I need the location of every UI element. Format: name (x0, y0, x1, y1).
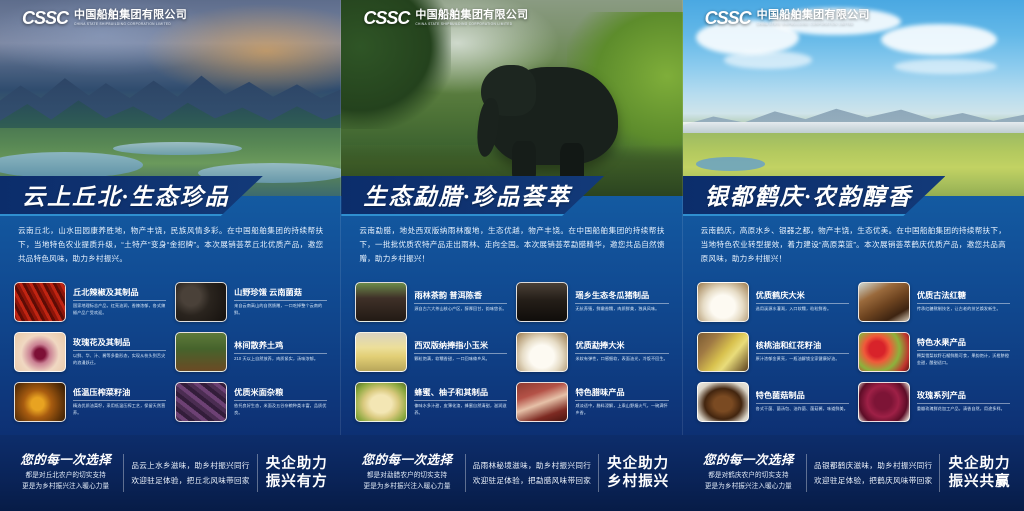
product-card[interactable]: 瑶乡生态冬瓜猪制品 无抗养殖，鲜嫩香糯，肉质鲜美，独具风味。 (516, 278, 668, 326)
product-card[interactable]: 优质古法红糖 传承红糖熬制技艺，让古老的技艺焕发新生。 (858, 278, 1010, 326)
product-desc: 咸淡适中，腊料浸解，上乘山野烟火气，一碗满怀乡香。 (575, 403, 668, 416)
hero-image-qiubei: CSSC 中国船舶集团有限公司 CHINA STATE SHIPBUILDING… (0, 0, 341, 196)
panel-description: 云南鹤庆，高原水乡、银器之都，物产丰饶，生态优美。在中国船舶集团的持续帮扶下，当… (683, 214, 1024, 266)
panel-description: 云南丘北，山水田园康养胜地，物产丰饶，民族风情多彩。在中国船舶集团的持续帮扶下，… (0, 214, 341, 266)
product-desc: 国家地理标志产品，红亮油润，香辣浓郁，各式辣椒产品广受欢迎。 (73, 303, 166, 316)
product-name: 优质勐捧大米 (575, 341, 668, 354)
title-banner: 云上丘北·生态珍品 (0, 176, 263, 216)
product-thumbnail (14, 382, 66, 422)
cssc-logo-mark: CSSC (22, 9, 68, 27)
footer-slogan-line2: 振兴有方 (266, 473, 328, 491)
product-desc: 来自云南高山的自然馈赠，一口吃掉整个云南的鲜。 (234, 303, 327, 316)
footer-pledge-line2: 更是为乡村振兴注入暖心力量 (355, 482, 458, 493)
product-thumbnail (516, 382, 568, 422)
footer-script-headline: 您的每一次选择 (355, 454, 458, 468)
product-card[interactable]: 丘北辣椒及其制品 国家地理标志产品，红亮油润，香辣浓郁，各式辣椒产品广受欢迎。 (14, 278, 166, 326)
footer-slogan-line1: 央企助力 (266, 455, 328, 473)
product-name: 低温压榨菜籽油 (73, 388, 166, 401)
product-name: 特色菌菇制品 (756, 391, 849, 404)
product-desc: 依托良好生态，米面及五谷杂粮种类丰富，品质优良。 (234, 403, 327, 416)
product-card[interactable]: 特色菌菇制品 各式干菌、菌汤包、油炸菌、菌菇酱，味道鲜美。 (697, 378, 849, 426)
footer-slogan-line2: 振兴共赢 (948, 473, 1010, 491)
product-thumbnail (516, 332, 568, 372)
product-name: 玫瑰系列产品 (917, 391, 1010, 404)
cssc-logo-name-cn: 中国船舶集团有限公司 (74, 10, 187, 22)
panel-heqing: CSSC 中国船舶集团有限公司 CHINA STATE SHIPBUILDING… (683, 0, 1024, 511)
panel-title: 云上丘北·生态珍品 (22, 177, 230, 211)
panel-footer: 您的每一次选择 都是对勐腊农户的切实支持 更是为乡村振兴注入暖心力量 品雨林秘境… (341, 435, 682, 511)
footer-invite-line2: 欢迎驻足体验，把丘北风味带回家 (131, 473, 249, 488)
product-thumbnail (516, 282, 568, 322)
footer-slogan: 央企助力 乡村振兴 (599, 455, 669, 491)
product-thumbnail (697, 332, 749, 372)
footer-slogan-line1: 央企助力 (948, 455, 1010, 473)
hero-photo (0, 0, 341, 196)
hero-image-mengla: CSSC 中国船舶集团有限公司 CHINA STATE SHIPBUILDING… (341, 0, 682, 196)
panel-footer: 您的每一次选择 都是对鹤庆农户的切实支持 更是为乡村振兴注入暖心力量 品银都鹤庆… (683, 435, 1024, 511)
footer-invitation: 品雨林秘境滋味，助乡村振兴同行 欢迎驻足体验，把勐腊风味带回家 (466, 458, 598, 488)
product-name: 雨林茶韵 普洱陈香 (414, 291, 507, 304)
cssc-logo: CSSC 中国船舶集团有限公司 CHINA STATE SHIPBUILDING… (363, 9, 528, 27)
footer-slogan: 央企助力 振兴有方 (258, 455, 328, 491)
product-card[interactable]: 核桃油和红花籽油 原汁浓郁金黄亮，一瓶油解锁全家健康好油。 (697, 328, 849, 376)
cssc-logo-name-cn: 中国船舶集团有限公司 (415, 10, 528, 22)
description-text: 云南丘北，山水田园康养胜地，物产丰饶，民族风情多彩。在中国船舶集团的持续帮扶下，… (18, 224, 323, 266)
product-desc: 原汁浓郁金黄亮，一瓶油解锁全家健康好油。 (756, 356, 849, 363)
title-banner: 银都鹤庆·农韵醇香 (683, 176, 946, 216)
cssc-logo-name-en: CHINA STATE SHIPBUILDING CORPORATION LIM… (74, 22, 187, 26)
footer-script-headline: 您的每一次选择 (14, 454, 117, 468)
panel-title: 生态勐腊·珍品荟萃 (363, 177, 571, 211)
footer-pledge-line2: 更是为乡村振兴注入暖心力量 (14, 482, 117, 493)
cssc-logo-mark: CSSC (705, 9, 751, 27)
product-name: 优质古法红糖 (917, 291, 1010, 304)
product-thumbnail (858, 382, 910, 422)
product-grid: 雨林茶韵 普洱陈香 源自古六大茶山核心产区，醇厚回甘，韵味悠长。 瑶乡生态冬瓜猪… (355, 278, 668, 426)
product-name: 优质米面杂粮 (234, 388, 327, 401)
footer-invite-line2: 欢迎驻足体验，把鹤庆风味带回家 (814, 473, 932, 488)
cssc-logo-name-en: CHINA STATE SHIPBUILDING CORPORATION LIM… (757, 22, 870, 26)
cssc-logo-mark: CSSC (363, 9, 409, 27)
footer-script-headline: 您的每一次选择 (697, 454, 800, 468)
title-banner: 生态勐腊·珍品荟萃 (341, 176, 604, 216)
footer-invite-line2: 欢迎驻足体验，把勐腊风味带回家 (473, 473, 591, 488)
product-card[interactable]: 林间散养土鸡 210 天以上自然放养，肉质紧实，汤味浓郁。 (175, 328, 327, 376)
footer-pledge: 您的每一次选择 都是对丘北农户的切实支持 更是为乡村振兴注入暖心力量 (14, 454, 123, 493)
product-thumbnail (175, 382, 227, 422)
product-thumbnail (14, 332, 66, 372)
product-name: 玫瑰花及其制品 (73, 338, 166, 351)
product-desc: 重瓣玫瑰鲜花加工产品，清香自然，用途多样。 (917, 406, 1010, 413)
product-card[interactable]: 山野珍馐 云南菌菇 来自云南高山的自然馈赠，一口吃掉整个云南的鲜。 (175, 278, 327, 326)
description-text: 云南勐腊，地处西双版纳雨林腹地，生态优越，物产丰饶。在中国船舶集团的持续帮扶下，… (359, 224, 664, 266)
product-name: 蜂蜜、柚子和其制品 (414, 388, 507, 401)
product-card[interactable]: 低温压榨菜籽油 精选优质油菜籽，采用低温压榨工艺，保留天然营养。 (14, 378, 166, 426)
hero-photo (341, 0, 682, 196)
product-name: 优质鹤庆大米 (756, 291, 849, 304)
product-thumbnail (697, 382, 749, 422)
product-thumbnail (858, 332, 910, 372)
product-card[interactable]: 优质鹤庆大米 选用溪源水灌溉，入口软糯，粒粒鲜香。 (697, 278, 849, 326)
product-thumbnail (175, 332, 227, 372)
product-card[interactable]: 玫瑰系列产品 重瓣玫瑰鲜花加工产品，清香自然，用途多样。 (858, 378, 1010, 426)
footer-slogan-line1: 央企助力 (607, 455, 669, 473)
product-name: 特色腊味产品 (575, 388, 668, 401)
product-card[interactable]: 优质米面杂粮 依托良好生态，米面及五谷杂粮种类丰富，品质优良。 (175, 378, 327, 426)
product-desc: 各式干菌、菌汤包、油炸菌、菌菇酱，味道鲜美。 (756, 406, 849, 413)
product-desc: 传承红糖熬制技艺，让古老的技艺焕发新生。 (917, 306, 1010, 313)
product-name: 丘北辣椒及其制品 (73, 288, 166, 301)
product-card[interactable]: 特色腊味产品 咸淡适中，腊料浸解，上乘山野烟火气，一碗满怀乡香。 (516, 378, 668, 426)
product-desc: 选用溪源水灌溉，入口软糯，粒粒鲜香。 (756, 306, 849, 313)
footer-pledge-line1: 都是对勐腊农户的切实支持 (355, 471, 458, 482)
product-name: 特色水果产品 (917, 338, 1010, 351)
footer-invite-line1: 品云上水乡滋味，助乡村振兴同行 (131, 458, 249, 473)
product-card[interactable]: 雨林茶韵 普洱陈香 源自古六大茶山核心产区，醇厚回甘，韵味悠长。 (355, 278, 507, 326)
product-name: 西双版纳捧指小玉米 (414, 341, 507, 354)
poster-board: CSSC 中国船舶集团有限公司 CHINA STATE SHIPBUILDING… (0, 0, 1024, 511)
product-name: 山野珍馐 云南菌菇 (234, 288, 327, 301)
footer-invitation: 品银都鹤庆滋味，助乡村振兴同行 欢迎驻足体验，把鹤庆风味带回家 (807, 458, 939, 488)
product-desc: 以鲜、华、汁、酱等多重形态，实现从枝头到舌尖的浪漫跃迁。 (73, 353, 166, 366)
product-thumbnail (355, 332, 407, 372)
footer-pledge-line2: 更是为乡村振兴注入暖心力量 (697, 482, 800, 493)
footer-slogan-line2: 乡村振兴 (607, 473, 669, 491)
cssc-logo: CSSC 中国船舶集团有限公司 CHINA STATE SHIPBUILDING… (22, 9, 187, 27)
product-name: 核桃油和红花籽油 (756, 341, 849, 354)
footer-pledge-line1: 都是对丘北农户的切实支持 (14, 471, 117, 482)
footer-pledge: 您的每一次选择 都是对勐腊农户的切实支持 更是为乡村振兴注入暖心力量 (355, 454, 464, 493)
product-desc: 傣味水多汁甜，皮薄化渣，蜂蜜自然清甜，滋润滋养。 (414, 403, 507, 416)
product-desc: 鳄梨雪梨软籽石榴鲜脆可食，果韵饱计，沃柑脐橙金甜，酸甜适口。 (917, 353, 1010, 366)
description-text: 云南鹤庆，高原水乡、银器之都，物产丰饶，生态优美。在中国船舶集团的持续帮扶下，当… (701, 224, 1006, 266)
footer-pledge: 您的每一次选择 都是对鹤庆农户的切实支持 更是为乡村振兴注入暖心力量 (697, 454, 806, 493)
product-card[interactable]: 玫瑰花及其制品 以鲜、华、汁、酱等多重形态，实现从枝头到舌尖的浪漫跃迁。 (14, 328, 166, 376)
footer-invitation: 品云上水乡滋味，助乡村振兴同行 欢迎驻足体验，把丘北风味带回家 (124, 458, 256, 488)
product-card[interactable]: 特色水果产品 鳄梨雪梨软籽石榴鲜脆可食，果韵饱计，沃柑脐橙金甜，酸甜适口。 (858, 328, 1010, 376)
cssc-logo-name-cn: 中国船舶集团有限公司 (757, 10, 870, 22)
product-card[interactable]: 蜂蜜、柚子和其制品 傣味水多汁甜，皮薄化渣，蜂蜜自然清甜，滋润滋养。 (355, 378, 507, 426)
footer-slogan: 央企助力 振兴共赢 (940, 455, 1010, 491)
product-thumbnail (697, 282, 749, 322)
panel-title: 银都鹤庆·农韵醇香 (705, 177, 913, 211)
product-thumbnail (175, 282, 227, 322)
product-thumbnail (858, 282, 910, 322)
product-name: 林间散养土鸡 (234, 341, 327, 354)
panel-footer: 您的每一次选择 都是对丘北农户的切实支持 更是为乡村振兴注入暖心力量 品云上水乡… (0, 435, 341, 511)
cssc-logo: CSSC 中国船舶集团有限公司 CHINA STATE SHIPBUILDING… (705, 9, 870, 27)
product-thumbnail (355, 382, 407, 422)
product-thumbnail (14, 282, 66, 322)
hero-image-heqing: CSSC 中国船舶集团有限公司 CHINA STATE SHIPBUILDING… (683, 0, 1024, 196)
product-name: 瑶乡生态冬瓜猪制品 (575, 291, 668, 304)
product-desc: 无抗养殖，鲜嫩香糯，肉质鲜美，独具风味。 (575, 306, 668, 313)
panel-description: 云南勐腊，地处西双版纳雨林腹地，生态优越，物产丰饶。在中国船舶集团的持续帮扶下，… (341, 214, 682, 266)
footer-invite-line1: 品银都鹤庆滋味，助乡村振兴同行 (814, 458, 932, 473)
product-grid: 优质鹤庆大米 选用溪源水灌溉，入口软糯，粒粒鲜香。 优质古法红糖 传承红糖熬制技… (697, 278, 1010, 426)
footer-pledge-line1: 都是对鹤庆农户的切实支持 (697, 471, 800, 482)
footer-invite-line1: 品雨林秘境滋味，助乡村振兴同行 (473, 458, 591, 473)
product-thumbnail (355, 282, 407, 322)
product-desc: 210 天以上自然放养，肉质紧实，汤味浓郁。 (234, 356, 327, 363)
panel-qiubei: CSSC 中国船舶集团有限公司 CHINA STATE SHIPBUILDING… (0, 0, 341, 511)
product-card[interactable]: 西双版纳捧指小玉米 颗粒饱满，软糯香甜，一口回味傣乡风。 (355, 328, 507, 376)
product-desc: 精选优质油菜籽，采用低温压榨工艺，保留天然营养。 (73, 403, 166, 416)
product-card[interactable]: 优质勐捧大米 米软有弹性，口感细软，表面油光，冷饭不回生。 (516, 328, 668, 376)
panel-mengla: CSSC 中国船舶集团有限公司 CHINA STATE SHIPBUILDING… (341, 0, 682, 511)
product-desc: 米软有弹性，口感细软，表面油光，冷饭不回生。 (575, 356, 668, 363)
product-grid: 丘北辣椒及其制品 国家地理标志产品，红亮油润，香辣浓郁，各式辣椒产品广受欢迎。 … (14, 278, 327, 426)
product-desc: 颗粒饱满，软糯香甜，一口回味傣乡风。 (414, 356, 507, 363)
hero-photo (683, 0, 1024, 196)
cssc-logo-name-en: CHINA STATE SHIPBUILDING CORPORATION LIM… (415, 22, 528, 26)
product-desc: 源自古六大茶山核心产区，醇厚回甘，韵味悠长。 (414, 306, 507, 313)
